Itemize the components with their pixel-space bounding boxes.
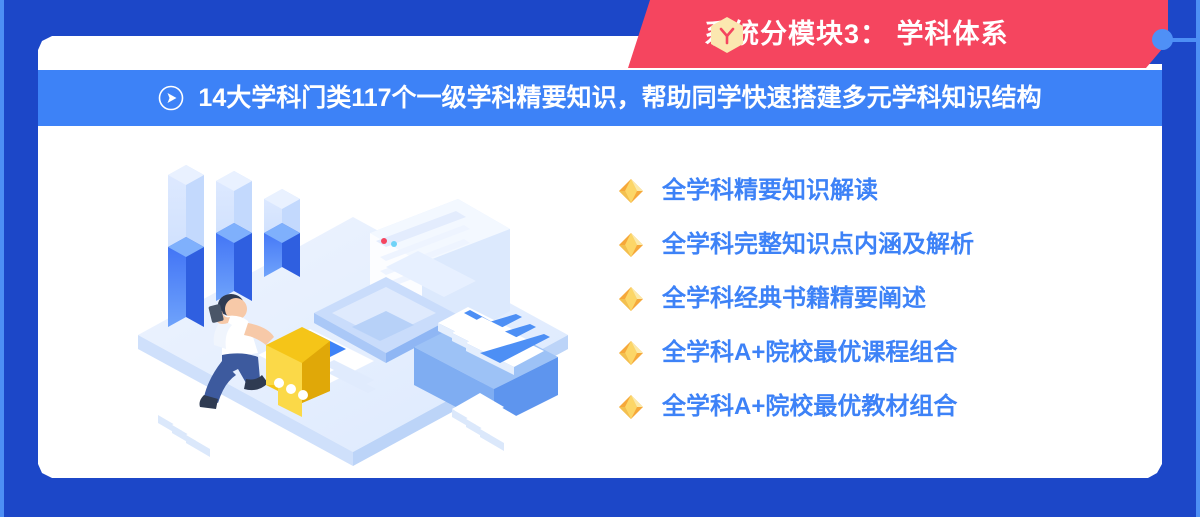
feature-list: 全学科精要知识解读 全学科完整知识点内涵及解析 全学科经典书 <box>588 178 1162 420</box>
feature-item-3[interactable]: 全学科A+院校最优课程组合 <box>618 340 1162 366</box>
feature-label: 全学科经典书籍精要阐述 <box>662 287 926 311</box>
right-edge-strip <box>1196 0 1200 517</box>
feature-item-0[interactable]: 全学科精要知识解读 <box>618 178 1162 204</box>
main-content: 全学科精要知识解读 全学科完整知识点内涵及解析 全学科经典书 <box>38 126 1162 478</box>
connector-dot <box>1152 29 1173 50</box>
gem-diamond-icon <box>618 394 644 420</box>
feature-label: 全学科精要知识解读 <box>662 179 878 203</box>
feature-item-2[interactable]: 全学科经典书籍精要阐述 <box>618 286 1162 312</box>
gem-diamond-icon <box>618 232 644 258</box>
isometric-data-workspace-illustration <box>118 137 588 467</box>
feature-item-4[interactable]: 全学科A+院校最优教材组合 <box>618 394 1162 420</box>
module-title: 系统分模块3： 学科体系 <box>704 21 1009 48</box>
module-header-content: 系统分模块3： 学科体系 <box>628 0 1168 68</box>
subtitle-bar: 14大学科门类117个一级学科精要知识，帮助同学快速搭建多元学科知识结构 <box>38 70 1162 126</box>
hexagon-y-icon <box>710 16 744 54</box>
left-edge-strip <box>0 0 4 517</box>
gem-diamond-icon <box>618 178 644 204</box>
module-header-band: 系统分模块3： 学科体系 <box>628 0 1168 68</box>
page-background: 系统分模块3： 学科体系 14大学科门类117个一级学科精要知识，帮助同学快速搭… <box>0 0 1200 517</box>
feature-item-1[interactable]: 全学科完整知识点内涵及解析 <box>618 232 1162 258</box>
illustration-stairs-left <box>158 399 238 457</box>
feature-label: 全学科A+院校最优教材组合 <box>662 395 957 419</box>
feature-label: 全学科A+院校最优课程组合 <box>662 341 957 365</box>
play-circle-icon <box>158 85 184 111</box>
gem-diamond-icon <box>618 286 644 312</box>
connector-line <box>1170 38 1200 42</box>
gem-diamond-icon <box>618 340 644 366</box>
subtitle-text: 14大学科门类117个一级学科精要知识，帮助同学快速搭建多元学科知识结构 <box>198 86 1041 111</box>
feature-label: 全学科完整知识点内涵及解析 <box>662 233 974 257</box>
